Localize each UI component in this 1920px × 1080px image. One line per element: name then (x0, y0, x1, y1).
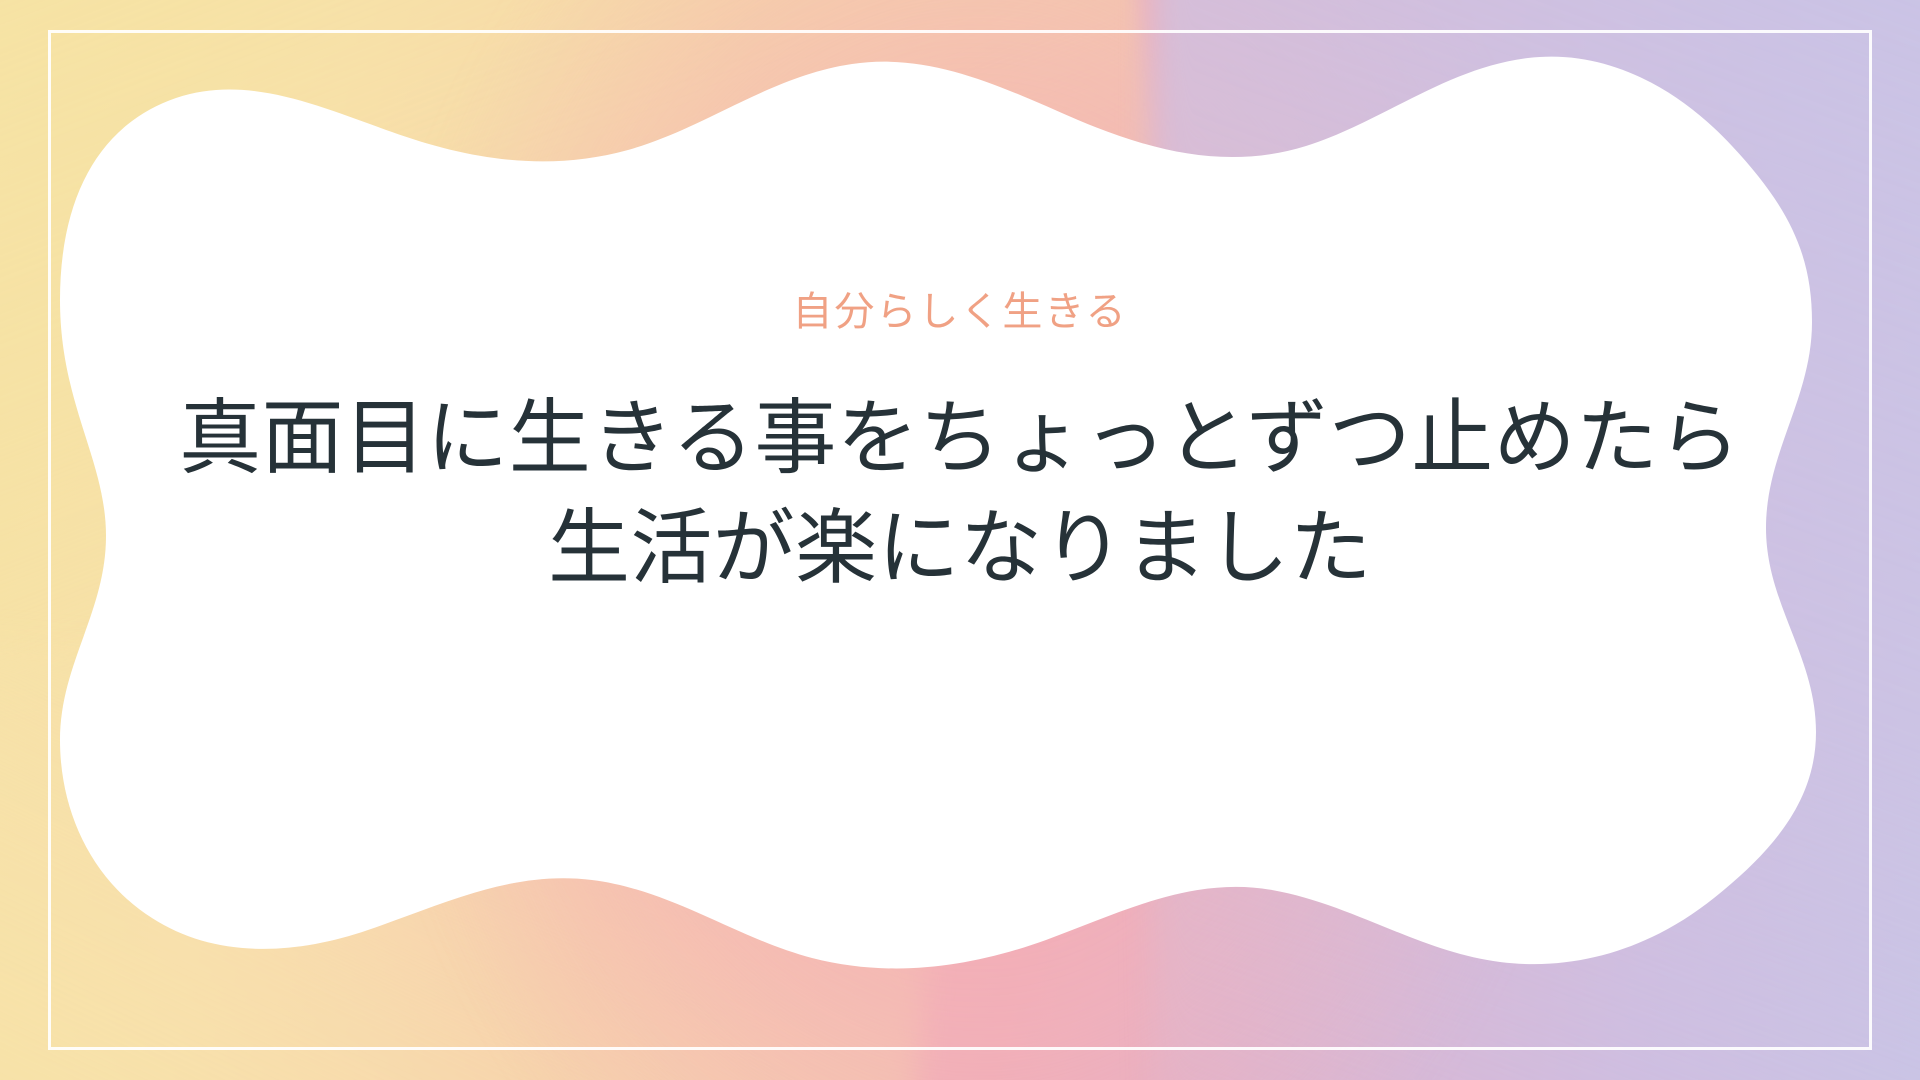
wavy-panel-path (60, 57, 1816, 969)
slide-canvas: 自分らしく生きる 真面目に生きる事をちょっとずつ止めたら 生活が楽になりました (0, 0, 1920, 1080)
wavy-white-panel (0, 0, 1920, 1080)
